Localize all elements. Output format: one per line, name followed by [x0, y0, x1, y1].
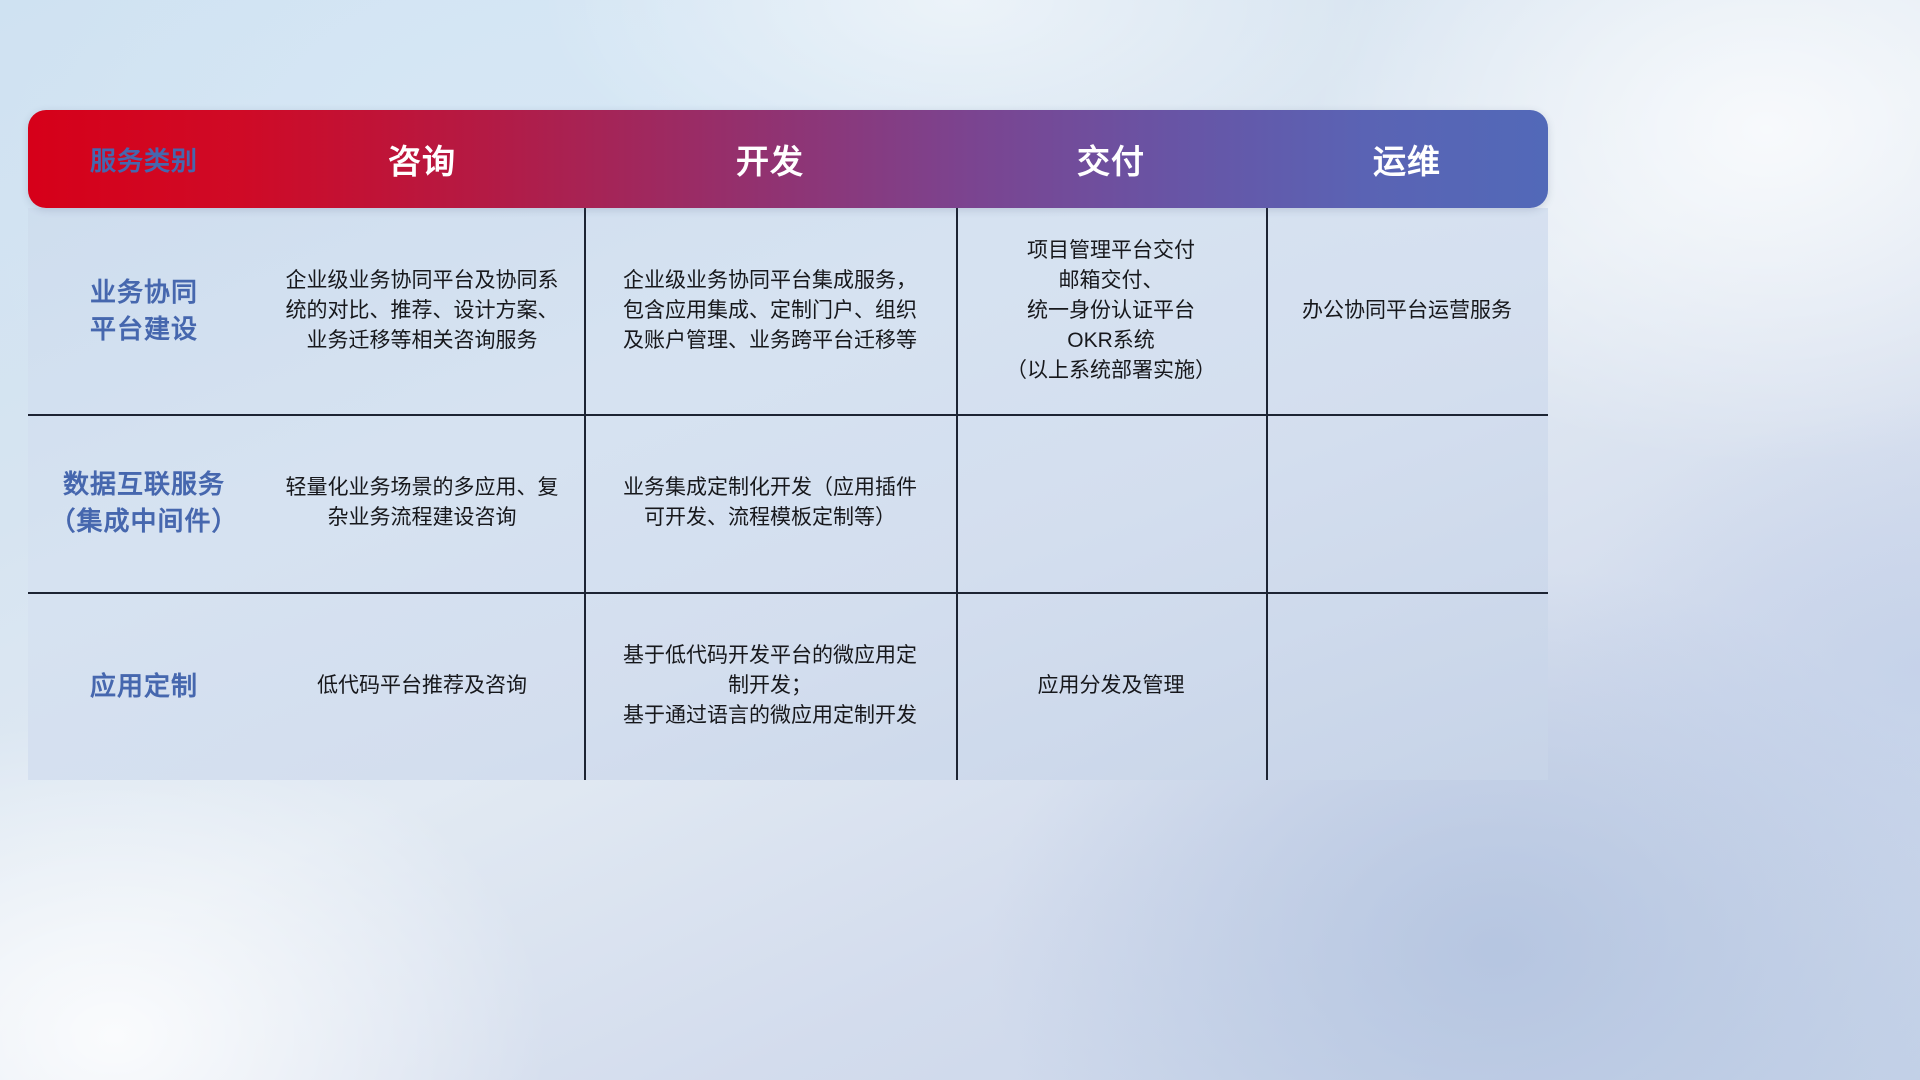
- cell-delivery: 应用分发及管理: [956, 592, 1266, 780]
- service-matrix-table: 服务类别 咨询 开发 交付 运维 业务协同 平台建设 企业级业务协同平台及协同系…: [28, 110, 1548, 780]
- row-category-label: 数据互联服务 （集成中间件）: [28, 414, 260, 592]
- cell-operations: 办公协同平台运营服务: [1266, 208, 1548, 414]
- table-row: 数据互联服务 （集成中间件） 轻量化业务场景的多应用、复 杂业务流程建设咨询 业…: [28, 414, 1548, 592]
- table-row: 应用定制 低代码平台推荐及咨询 基于低代码开发平台的微应用定 制开发； 基于通过…: [28, 592, 1548, 780]
- row-divider: [28, 592, 1548, 594]
- cell-development: 业务集成定制化开发（应用插件 可开发、流程模板定制等）: [584, 414, 956, 592]
- row-category-label: 业务协同 平台建设: [28, 208, 260, 414]
- cell-consulting: 低代码平台推荐及咨询: [260, 592, 584, 780]
- column-header-delivery: 交付: [956, 135, 1266, 183]
- column-header-category: 服务类别: [28, 141, 260, 178]
- cell-operations: [1266, 414, 1548, 592]
- cell-development: 基于低代码开发平台的微应用定 制开发； 基于通过语言的微应用定制开发: [584, 592, 956, 780]
- cell-consulting: 轻量化业务场景的多应用、复 杂业务流程建设咨询: [260, 414, 584, 592]
- column-header-development: 开发: [584, 135, 956, 183]
- table-header-row: 服务类别 咨询 开发 交付 运维: [28, 110, 1548, 208]
- column-header-consulting: 咨询: [260, 135, 584, 183]
- cell-development: 企业级业务协同平台集成服务， 包含应用集成、定制门户、组织 及账户管理、业务跨平…: [584, 208, 956, 414]
- row-divider: [28, 414, 1548, 416]
- column-divider: [956, 208, 958, 780]
- cell-consulting: 企业级业务协同平台及协同系 统的对比、推荐、设计方案、 业务迁移等相关咨询服务: [260, 208, 584, 414]
- column-header-operations: 运维: [1266, 135, 1548, 183]
- row-category-label: 应用定制: [28, 592, 260, 780]
- cell-delivery: [956, 414, 1266, 592]
- table-row: 业务协同 平台建设 企业级业务协同平台及协同系 统的对比、推荐、设计方案、 业务…: [28, 208, 1548, 414]
- column-divider: [584, 208, 586, 780]
- table-body: 业务协同 平台建设 企业级业务协同平台及协同系 统的对比、推荐、设计方案、 业务…: [28, 208, 1548, 780]
- cell-delivery: 项目管理平台交付 邮箱交付、 统一身份认证平台 OKR系统 （以上系统部署实施）: [956, 208, 1266, 414]
- cell-operations: [1266, 592, 1548, 780]
- column-divider: [1266, 208, 1268, 780]
